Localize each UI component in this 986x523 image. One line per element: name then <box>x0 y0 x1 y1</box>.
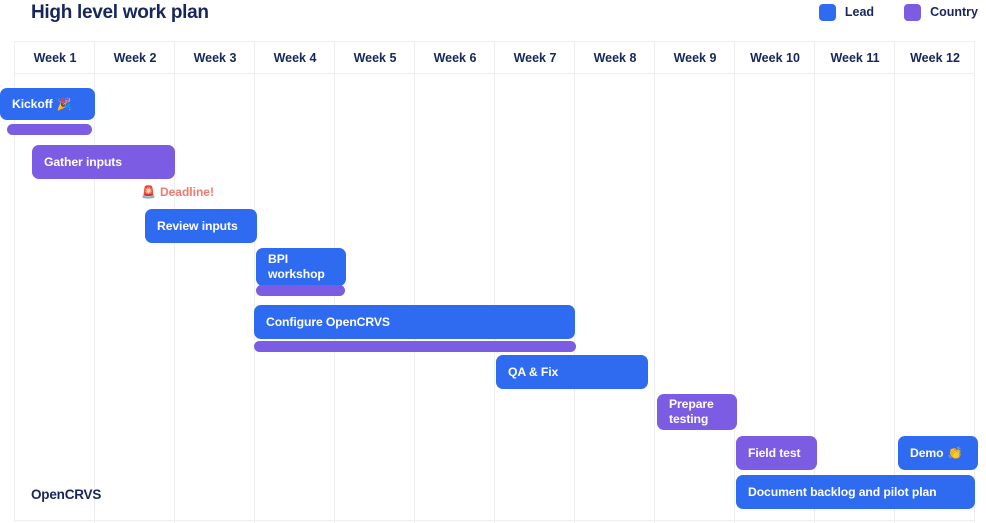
page-title: High level work plan <box>31 2 209 24</box>
week-header-4: Week 4 <box>255 42 335 74</box>
task-bar-configure-opencrvs[interactable]: Configure OpenCRVS <box>254 305 575 339</box>
task-bar-label: Configure OpenCRVS <box>254 315 398 329</box>
task-bar-gather-inputs[interactable]: Gather inputs <box>32 145 175 179</box>
task-bar-bpi-workshop[interactable]: BPI workshop <box>256 248 346 286</box>
week-header-6: Week 6 <box>415 42 495 74</box>
legend: LeadCountry <box>819 0 978 24</box>
task-emoji-icon: 🎉 <box>57 97 72 111</box>
legend-swatch-lead <box>819 4 836 21</box>
grid-bottom-border <box>14 520 975 521</box>
legend-item-country: Country <box>904 4 978 21</box>
brand-label: OpenCRVS <box>31 487 101 502</box>
task-subbar-kickoff[interactable] <box>7 124 92 135</box>
task-subbar-configure-opencrvs[interactable] <box>254 341 576 352</box>
task-bar-label: BPI workshop <box>256 252 346 282</box>
task-bar-field-test[interactable]: Field test <box>736 436 817 470</box>
milestone-label: Deadline! <box>160 185 214 199</box>
week-column-7: Week 7 <box>495 42 575 523</box>
task-bar-review-inputs[interactable]: Review inputs <box>145 209 257 243</box>
task-bar-label: Prepare testing <box>657 397 737 427</box>
task-subbar-bpi-workshop[interactable] <box>256 285 345 296</box>
week-column-3: Week 3 <box>175 42 255 523</box>
legend-swatch-country <box>904 4 921 21</box>
legend-label: Lead <box>845 5 874 19</box>
task-bar-label: Document backlog and pilot plan <box>736 485 945 499</box>
week-header-9: Week 9 <box>655 42 735 74</box>
week-column-5: Week 5 <box>335 42 415 523</box>
week-header-5: Week 5 <box>335 42 415 74</box>
week-column-8: Week 8 <box>575 42 655 523</box>
task-bar-label: QA & Fix <box>496 365 566 379</box>
task-bar-label: Kickoff <box>0 97 61 111</box>
week-grid: Week 1Week 2Week 3Week 4Week 5Week 6Week… <box>14 41 975 522</box>
week-column-11: Week 11 <box>815 42 895 523</box>
week-header-3: Week 3 <box>175 42 255 74</box>
week-column-2: Week 2 <box>95 42 175 523</box>
week-header-10: Week 10 <box>735 42 815 74</box>
legend-item-lead: Lead <box>819 4 874 21</box>
alarm-icon: 🚨 <box>141 185 156 199</box>
task-bar-label: Demo <box>898 446 951 460</box>
week-column-6: Week 6 <box>415 42 495 523</box>
week-header-12: Week 12 <box>895 42 975 74</box>
week-column-9: Week 9 <box>655 42 735 523</box>
task-bar-label: Review inputs <box>145 219 246 233</box>
legend-label: Country <box>930 5 978 19</box>
task-emoji-icon: 👏 <box>947 446 962 460</box>
task-bar-qa-fix[interactable]: QA & Fix <box>496 355 648 389</box>
week-header-1: Week 1 <box>15 42 95 74</box>
task-bar-prepare-testing[interactable]: Prepare testing <box>657 394 737 430</box>
task-bar-demo[interactable]: Demo👏 <box>898 436 978 470</box>
week-header-11: Week 11 <box>815 42 895 74</box>
milestone-deadline[interactable]: 🚨Deadline! <box>141 185 214 199</box>
task-bar-kickoff[interactable]: Kickoff🎉 <box>0 88 95 120</box>
week-header-8: Week 8 <box>575 42 655 74</box>
week-header-2: Week 2 <box>95 42 175 74</box>
week-header-7: Week 7 <box>495 42 575 74</box>
task-bar-label: Gather inputs <box>32 155 130 169</box>
chart-header: High level work plan LeadCountry <box>0 0 986 40</box>
task-bar-label: Field test <box>736 446 809 461</box>
task-bar-document-backlog-and-pilot-plan[interactable]: Document backlog and pilot plan <box>736 475 975 509</box>
